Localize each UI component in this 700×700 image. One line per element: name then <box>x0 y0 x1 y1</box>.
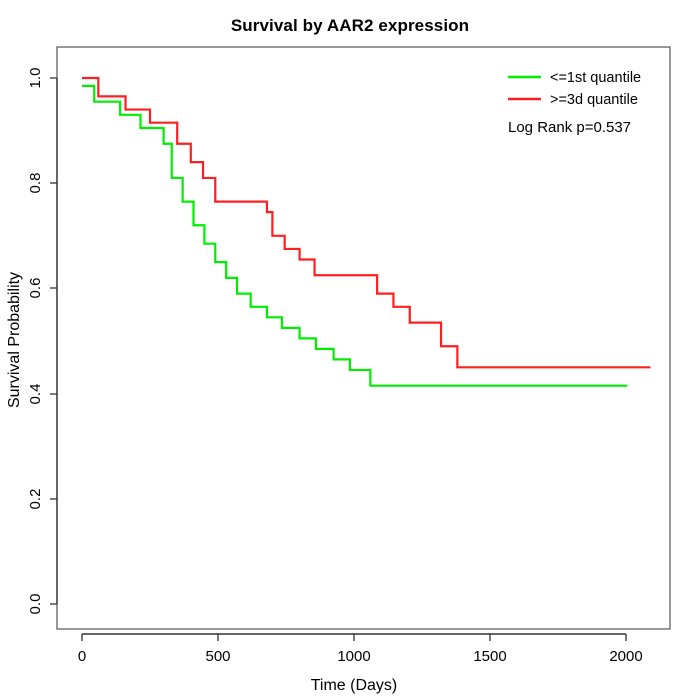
y-tick-label-0.2: 0.2 <box>27 489 44 510</box>
x-tick-label-2000: 2000 <box>609 648 642 665</box>
legend-label-low-quantile: <=1st quantile <box>550 70 641 86</box>
x-axis-title: Time (Days) <box>311 677 398 694</box>
y-tick-label-0.6: 0.6 <box>27 278 44 299</box>
legend-label-high-quantile: >=3d quantile <box>550 92 638 108</box>
x-tick-label-0: 0 <box>78 648 86 665</box>
plot-canvas: 1.0 0.8 0.6 0.4 0.2 0.0 Survival Probabi… <box>0 0 700 700</box>
x-axis: 0 500 1000 1500 2000 Time (Days) <box>78 634 643 694</box>
x-tick-label-1500: 1500 <box>473 648 506 665</box>
log-rank-p-value: Log Rank p=0.537 <box>508 119 631 136</box>
y-axis: 1.0 0.8 0.6 0.4 0.2 0.0 Survival Probabi… <box>6 68 57 615</box>
y-tick-label-0.4: 0.4 <box>27 384 44 405</box>
y-axis-title: Survival Probability <box>6 272 23 408</box>
x-tick-label-1000: 1000 <box>337 648 370 665</box>
survival-plot-figure: Survival by AAR2 expression 1.0 0.8 0.6 … <box>0 0 700 700</box>
y-tick-label-0.0: 0.0 <box>27 594 44 615</box>
y-tick-label-1.0: 1.0 <box>27 68 44 89</box>
legend: <=1st quantile >=3d quantile Log Rank p=… <box>508 70 641 136</box>
y-tick-label-0.8: 0.8 <box>27 173 44 194</box>
x-tick-label-500: 500 <box>205 648 230 665</box>
